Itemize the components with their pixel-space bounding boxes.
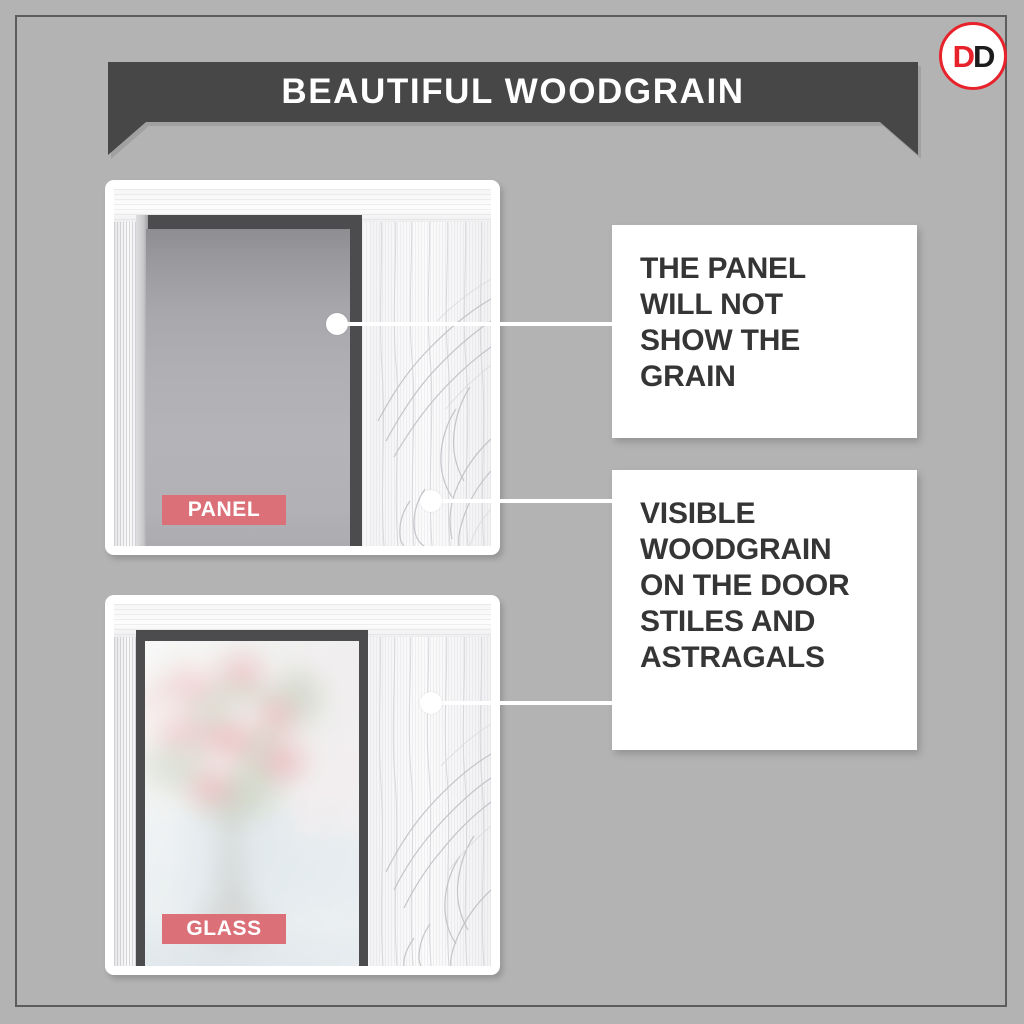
connector-line-panel [336, 322, 616, 326]
callout-2-text: VISIBLE WOODGRAIN ON THE DOOR STILES AND… [640, 496, 889, 676]
callout-1-line-2: WILL NOT [640, 287, 889, 323]
connector-line-panel-stile [430, 499, 616, 503]
glass-tag-badge: GLASS [162, 914, 286, 944]
banner-title: BEAUTIFUL WOODGRAIN [108, 62, 918, 122]
connector-dot-panel-stile [420, 490, 442, 512]
callout-2-line-2: WOODGRAIN [640, 532, 889, 568]
callout-2-line-4: STILES AND [640, 604, 889, 640]
connector-dot-glass-stile [420, 692, 442, 714]
title-banner: BEAUTIFUL WOODGRAIN [108, 62, 918, 156]
glass-door-card[interactable]: GLASS [105, 595, 500, 975]
infographic-canvas: DD BEAUTIFUL WOODGRAIN [0, 0, 1024, 1024]
connector-dot-panel [326, 313, 348, 335]
logo-letter-red: D [953, 41, 973, 72]
panel-tag-badge: PANEL [162, 495, 286, 525]
callout-2-line-5: ASTRAGALS [640, 640, 889, 676]
callout-1-line-3: SHOW THE [640, 323, 889, 359]
logo-letter-black: D [973, 41, 993, 72]
callout-2-line-1: VISIBLE [640, 496, 889, 532]
glass-door-image: GLASS [114, 604, 491, 966]
callout-1-text: THE PANEL WILL NOT SHOW THE GRAIN [640, 251, 889, 395]
callout-1-line-1: THE PANEL [640, 251, 889, 287]
connector-line-glass-stile [430, 701, 616, 705]
callout-2-line-3: ON THE DOOR [640, 568, 889, 604]
callout-visible-woodgrain: VISIBLE WOODGRAIN ON THE DOOR STILES AND… [612, 470, 917, 750]
glass-door-stile [370, 604, 491, 966]
callout-1-line-4: GRAIN [640, 359, 889, 395]
woodgrain-texture-icon [370, 604, 491, 966]
callout-panel-grain: THE PANEL WILL NOT SHOW THE GRAIN [612, 225, 917, 438]
dd-logo[interactable]: DD [939, 22, 1007, 90]
